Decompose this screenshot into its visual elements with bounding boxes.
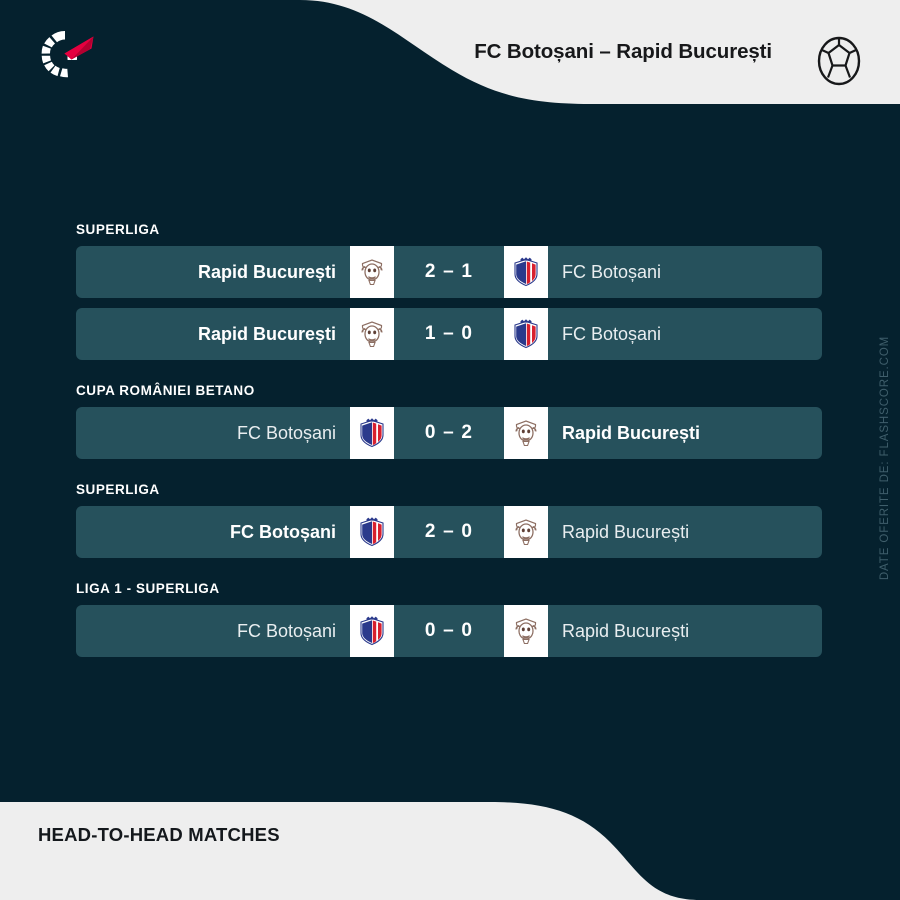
flashscore-logo-icon — [31, 27, 105, 89]
fc-botosani-crest — [504, 308, 548, 360]
league-header: LIGA 1 - SUPERLIGA — [76, 568, 822, 605]
match-row[interactable]: Rapid București1 – 0FC Botoșani — [76, 308, 822, 360]
app-footer: HEAD-TO-HEAD MATCHES — [0, 780, 900, 900]
home-team-name: FC Botoșani — [76, 506, 350, 558]
home-team-name: FC Botoșani — [76, 605, 350, 657]
fc-botosani-crest — [350, 605, 394, 657]
app-header: FC Botoșani – Rapid București — [0, 0, 900, 122]
rapid-bucuresti-crest — [504, 605, 548, 657]
away-team-name: Rapid București — [548, 605, 822, 657]
match-score: 1 – 0 — [394, 308, 504, 360]
away-team-name: FC Botoșani — [548, 308, 822, 360]
league-header: SUPERLIGA — [76, 469, 822, 506]
match-list: SUPERLIGARapid București2 – 1FC Botoșani… — [76, 222, 822, 667]
match-row[interactable]: Rapid București2 – 1FC Botoșani — [76, 246, 822, 298]
fc-botosani-crest — [504, 246, 548, 298]
match-score: 2 – 0 — [394, 506, 504, 558]
match-score: 2 – 1 — [394, 246, 504, 298]
page-title: FC Botoșani – Rapid București — [474, 0, 772, 104]
match-score: 0 – 2 — [394, 407, 504, 459]
home-team-name: FC Botoșani — [76, 407, 350, 459]
fc-botosani-crest — [350, 407, 394, 459]
away-team-name: FC Botoșani — [548, 246, 822, 298]
head-to-head-card: FC Botoșani – Rapid București SUPERLIGAR… — [0, 0, 900, 900]
match-row[interactable]: FC Botoșani0 – 0Rapid București — [76, 605, 822, 657]
rapid-bucuresti-crest — [350, 308, 394, 360]
match-row[interactable]: FC Botoșani0 – 2Rapid București — [76, 407, 822, 459]
data-source-credit: DATE OFERITE DE: FLASHSCORE.COM — [870, 318, 900, 598]
home-team-name: Rapid București — [76, 246, 350, 298]
away-team-name: Rapid București — [548, 506, 822, 558]
rapid-bucuresti-crest — [350, 246, 394, 298]
league-header: CUPA ROMÂNIEI BETANO — [76, 370, 822, 407]
footer-title: HEAD-TO-HEAD MATCHES — [38, 824, 280, 846]
match-row[interactable]: FC Botoșani2 – 0Rapid București — [76, 506, 822, 558]
match-score: 0 – 0 — [394, 605, 504, 657]
league-header: SUPERLIGA — [76, 222, 822, 246]
home-team-name: Rapid București — [76, 308, 350, 360]
soccer-ball-icon — [814, 36, 864, 86]
away-team-name: Rapid București — [548, 407, 822, 459]
fc-botosani-crest — [350, 506, 394, 558]
rapid-bucuresti-crest — [504, 407, 548, 459]
data-source-credit-text: DATE OFERITE DE: FLASHSCORE.COM — [879, 336, 891, 580]
rapid-bucuresti-crest — [504, 506, 548, 558]
